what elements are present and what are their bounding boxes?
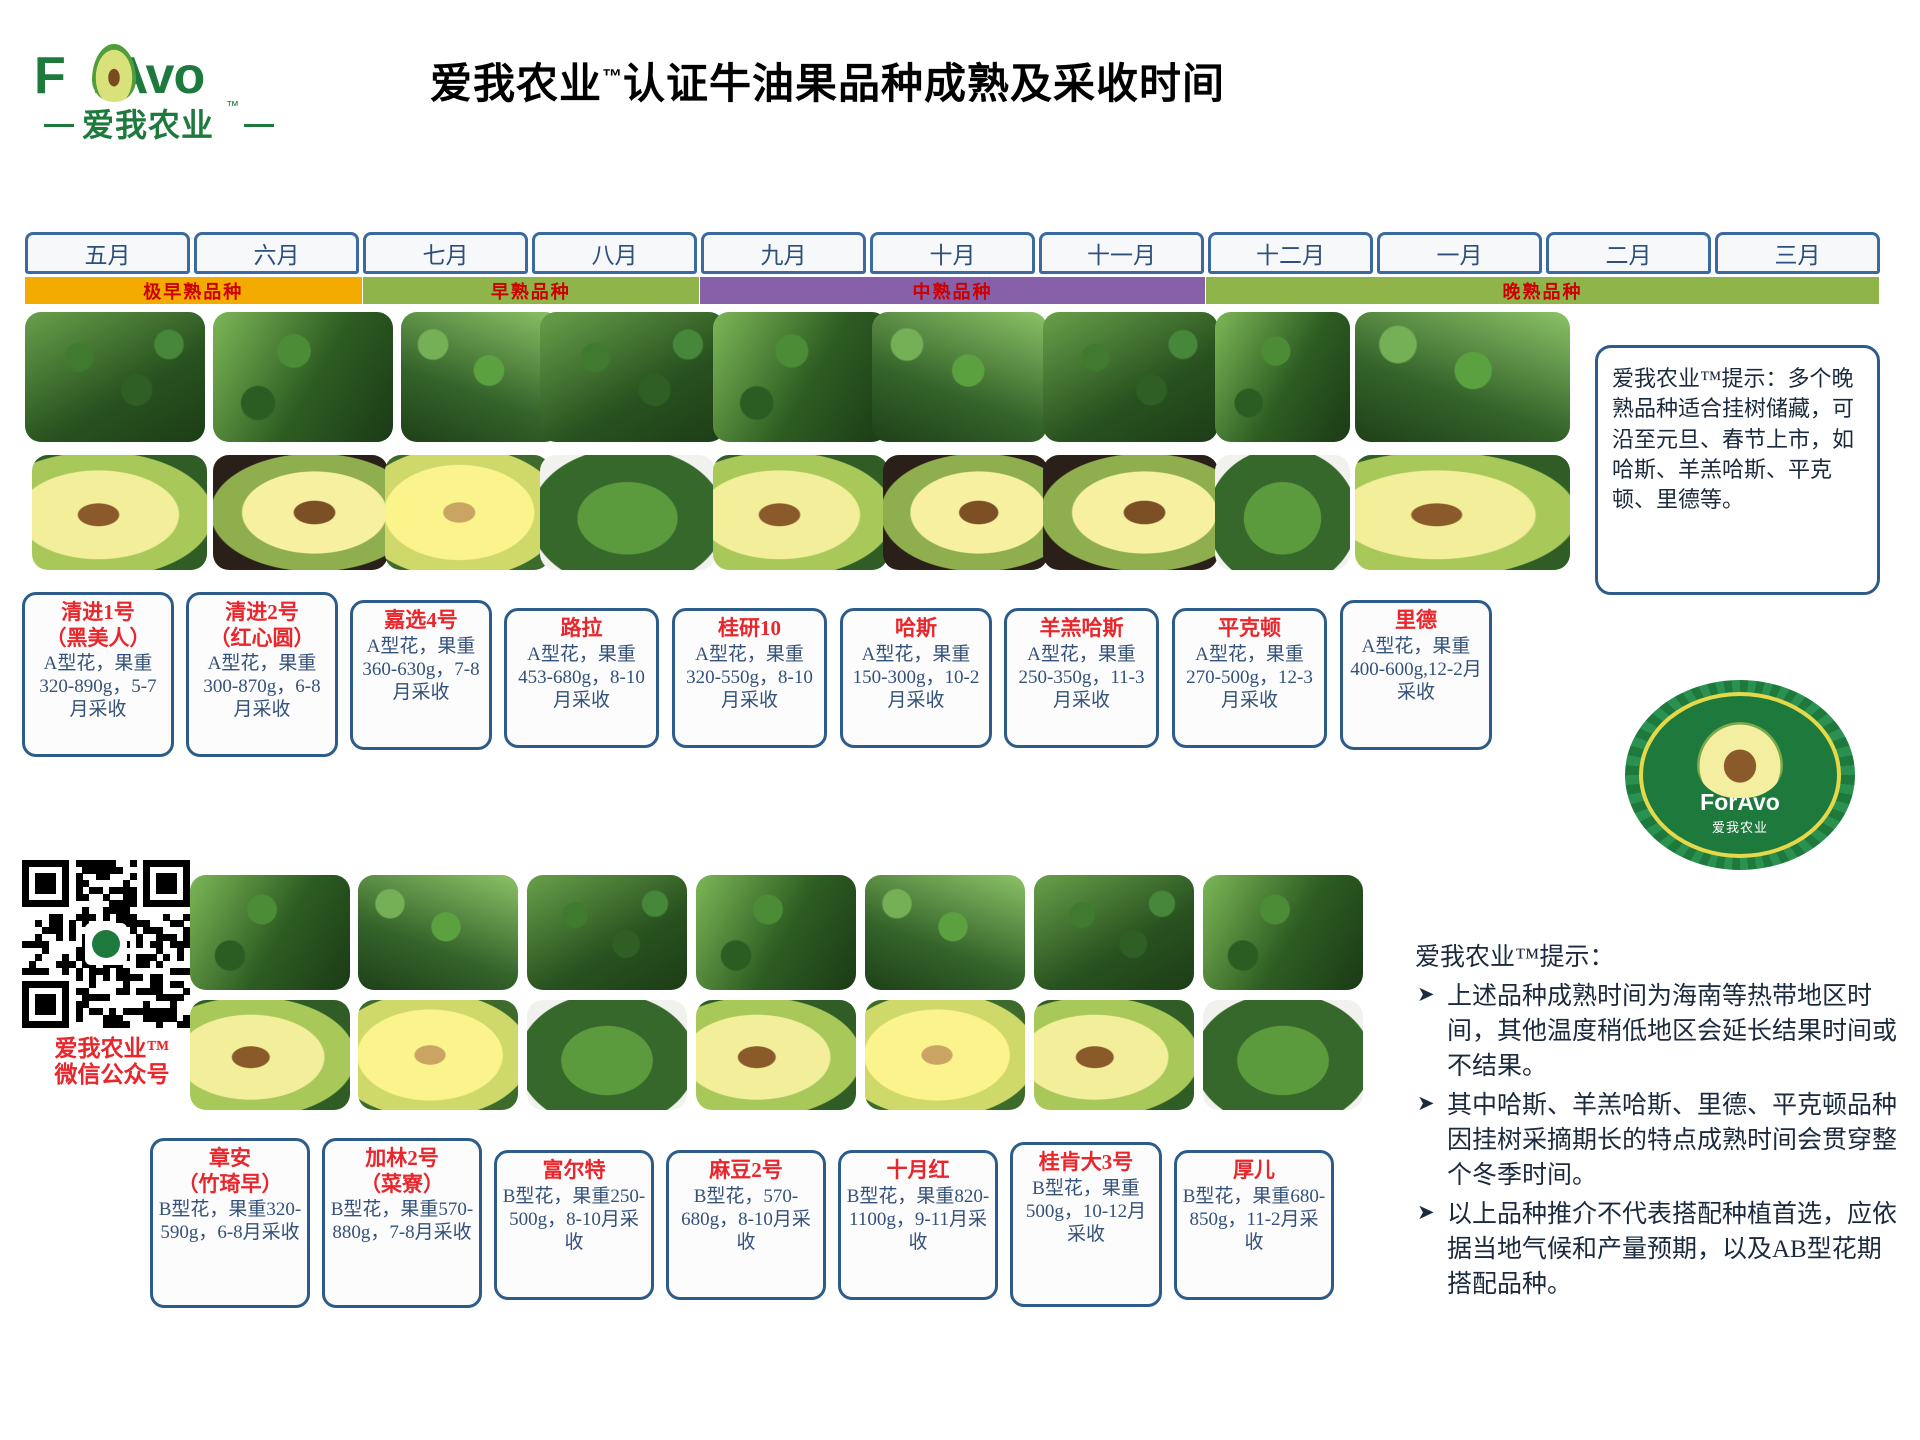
month-cell-8[interactable]: 十二月	[1208, 232, 1373, 274]
variety-fruit-photo	[1203, 1000, 1363, 1110]
title-trademark-icon: ™	[602, 66, 623, 88]
variety-card-title: 十月红	[846, 1159, 990, 1183]
variety-card[interactable]: 章安（竹琦早）B型花，果重320-590g，6-8月采收	[150, 1138, 310, 1308]
month-cell-1[interactable]: 五月	[25, 232, 190, 274]
variety-card-title: 哈斯	[848, 617, 984, 641]
brand-seal-badge: ForAvo 爱我农业	[1625, 680, 1855, 870]
qr-caption: 爱我农业™ 微信公众号	[22, 1036, 202, 1088]
variety-tree-photo	[190, 875, 350, 990]
variety-card-description: B型花，果重820-1100g，9-11月采收	[846, 1185, 990, 1255]
variety-card-description: A型花，果重250-350g，11-3月采收	[1012, 643, 1151, 713]
month-cell-9[interactable]: 一月	[1377, 232, 1542, 274]
variety-fruit-photo	[696, 1000, 856, 1110]
variety-card-description: B型花，果重250-500g，8-10月采收	[502, 1185, 646, 1255]
variety-fruit-photo	[358, 1000, 518, 1110]
variety-fruit-photo	[865, 1000, 1025, 1110]
variety-tree-photo	[713, 312, 888, 442]
variety-card-title: 平克顿	[1180, 617, 1319, 641]
month-cell-2[interactable]: 六月	[194, 232, 359, 274]
variety-fruit-photo	[1215, 455, 1350, 570]
variety-card-title: 路拉	[512, 617, 651, 641]
tip-notes-heading: 爱我农业™提示：	[1415, 940, 1905, 975]
variety-card[interactable]: 清进2号（红心圆）A型花，果重300-870g，6-8月采收	[186, 592, 338, 757]
logo-rule-left	[44, 124, 74, 127]
variety-card[interactable]: 桂研10A型花，果重320-550g，8-10月采收	[672, 608, 827, 748]
tip-notes-list: 上述品种成熟时间为海南等热带地区时间，其他温度稍低地区会延长结果时间或不结果。其…	[1415, 979, 1905, 1302]
variety-fruit-photo	[1043, 455, 1218, 570]
month-cell-10[interactable]: 二月	[1546, 232, 1711, 274]
variety-tree-photo	[25, 312, 205, 442]
variety-card-title: 羊羔哈斯	[1012, 617, 1151, 641]
variety-card[interactable]: 哈斯A型花，果重150-300g，10-2月采收	[840, 608, 992, 748]
qr-caption-line2: 微信公众号	[55, 1062, 170, 1087]
qr-caption-line1: 爱我农业™	[55, 1036, 170, 1061]
variety-card-description: A型花，果重400-600g,12-2月采收	[1348, 635, 1484, 705]
avocado-icon	[1697, 722, 1783, 798]
variety-card-title: 清进2号	[194, 601, 330, 625]
variety-card[interactable]: 富尔特B型花，果重250-500g，8-10月采收	[494, 1150, 654, 1300]
tip-note-item-2: 其中哈斯、羊羔哈斯、里德、平克顿品种因挂树采摘期长的特点成熟时间会贯穿整个冬季时…	[1415, 1088, 1905, 1193]
variety-fruit-photo	[32, 455, 207, 570]
variety-card[interactable]: 麻豆2号B型花，570-680g，8-10月采收	[666, 1150, 826, 1300]
variety-card-description: B型花，果重320-590g，6-8月采收	[158, 1198, 302, 1244]
season-band-row: 极早熟品种早熟品种中熟品种晚熟品种	[25, 277, 1880, 304]
variety-fruit-photo	[713, 455, 888, 570]
variety-card-title: 麻豆2号	[674, 1159, 818, 1183]
season-band-2[interactable]: 早熟品种	[363, 277, 701, 304]
variety-card[interactable]: 平克顿A型花，果重270-500g，12-3月采收	[1172, 608, 1327, 748]
badge-face: ForAvo 爱我农业	[1639, 692, 1841, 858]
variety-card-description: B型花，果重500g，10-12月采收	[1018, 1177, 1154, 1247]
variety-fruit-photo	[1355, 455, 1570, 570]
variety-card-title: 桂肯大3号	[1018, 1151, 1154, 1175]
variety-card-description: A型花，果重320-890g，5-7月采收	[30, 652, 166, 722]
tip-callout-late-varieties: 爱我农业™提示：多个晚熟品种适合挂树储藏，可沿至元旦、春节上市，如哈斯、羊羔哈斯…	[1595, 345, 1880, 595]
variety-card-title: 清进1号	[30, 601, 166, 625]
logo-trademark-icon: ™	[226, 98, 239, 113]
variety-fruit-photo	[883, 455, 1048, 570]
variety-card[interactable]: 十月红B型花，果重820-1100g，9-11月采收	[838, 1150, 998, 1300]
variety-fruit-photo	[527, 1000, 687, 1110]
variety-tree-photo	[865, 875, 1025, 990]
variety-card[interactable]: 里德A型花，果重400-600g,12-2月采收	[1340, 600, 1492, 750]
variety-card-title: 嘉选4号	[358, 609, 484, 633]
variety-card[interactable]: 嘉选4号A型花，果重360-630g，7-8月采收	[350, 600, 492, 750]
month-cell-4[interactable]: 八月	[532, 232, 697, 274]
variety-tree-photo	[1355, 312, 1570, 442]
page-title-rest: 认证牛油果品种成熟及采收时间	[623, 60, 1225, 107]
variety-card-title: 桂研10	[680, 617, 819, 641]
variety-card[interactable]: 路拉A型花，果重453-680g，8-10月采收	[504, 608, 659, 748]
tip-note-item-1: 上述品种成熟时间为海南等热带地区时间，其他温度稍低地区会延长结果时间或不结果。	[1415, 979, 1905, 1084]
season-band-4[interactable]: 晚熟品种	[1206, 277, 1880, 304]
variety-card-description: B型花，果重680-850g，11-2月采收	[1182, 1185, 1326, 1255]
variety-tree-photo	[1203, 875, 1363, 990]
page-title: 爱我农业™认证牛油果品种成熟及采收时间	[430, 50, 1530, 111]
variety-card-title: 富尔特	[502, 1159, 646, 1183]
variety-tree-photo	[872, 312, 1047, 442]
variety-card-description: A型花，果重360-630g，7-8月采收	[358, 635, 484, 705]
variety-tree-photo	[1043, 312, 1218, 442]
variety-card[interactable]: 厚儿B型花，果重680-850g，11-2月采收	[1174, 1150, 1334, 1300]
month-cell-7[interactable]: 十一月	[1039, 232, 1204, 274]
variety-card-description: B型花，果重570-880g，7-8月采收	[330, 1198, 474, 1244]
tip-callout-notes: 爱我农业™提示： 上述品种成熟时间为海南等热带地区时间，其他温度稍低地区会延长结…	[1415, 940, 1905, 1370]
season-band-3[interactable]: 中熟品种	[700, 277, 1206, 304]
variety-fruit-photo	[540, 455, 715, 570]
variety-card[interactable]: 羊羔哈斯A型花，果重250-350g，11-3月采收	[1004, 608, 1159, 748]
month-cell-6[interactable]: 十月	[870, 232, 1035, 274]
variety-card[interactable]: 桂肯大3号B型花，果重500g，10-12月采收	[1010, 1142, 1162, 1307]
season-band-1[interactable]: 极早熟品种	[25, 277, 363, 304]
variety-tree-photo	[1034, 875, 1194, 990]
month-header-row: 五月六月七月八月九月十月十一月十二月一月二月三月	[25, 232, 1880, 274]
variety-card-title: 厚儿	[1182, 1159, 1326, 1183]
variety-card-description: A型花，果重320-550g，8-10月采收	[680, 643, 819, 713]
variety-fruit-photo	[190, 1000, 350, 1110]
qr-code-image[interactable]	[22, 860, 190, 1028]
month-cell-3[interactable]: 七月	[363, 232, 528, 274]
variety-fruit-photo	[385, 455, 550, 570]
variety-tree-photo	[527, 875, 687, 990]
variety-card-alias: （竹琦早）	[158, 1173, 302, 1197]
variety-card-alias: （红心圆）	[194, 627, 330, 651]
variety-card-alias: （黑美人）	[30, 627, 166, 651]
variety-card-description: A型花，果重300-870g，6-8月采收	[194, 652, 330, 722]
wechat-qr-block: 爱我农业™ 微信公众号	[22, 860, 202, 1090]
month-cell-11[interactable]: 三月	[1715, 232, 1880, 274]
variety-card-title: 加林2号	[330, 1147, 474, 1171]
badge-chinese-name: 爱我农业	[1712, 817, 1768, 836]
logo-rule-right	[244, 124, 274, 127]
variety-tree-photo	[401, 312, 561, 442]
variety-card-alias: （菜寮）	[330, 1173, 474, 1197]
variety-tree-photo	[696, 875, 856, 990]
variety-card-description: A型花，果重270-500g，12-3月采收	[1180, 643, 1319, 713]
variety-card-title: 里德	[1348, 609, 1484, 633]
logo-chinese-name: 爱我农业	[82, 100, 214, 146]
variety-tree-photo	[1215, 312, 1350, 442]
brand-logo: F rAvo 爱我农业 ™	[30, 38, 280, 148]
variety-fruit-photo	[1034, 1000, 1194, 1110]
variety-card-title: 章安	[158, 1147, 302, 1171]
month-cell-5[interactable]: 九月	[701, 232, 866, 274]
variety-tree-photo	[540, 312, 725, 442]
tip-note-item-3: 以上品种推介不代表搭配种植首选，应依据当地气候和产量预期，以及AB型花期搭配品种…	[1415, 1197, 1905, 1302]
variety-tree-photo	[358, 875, 518, 990]
variety-card[interactable]: 清进1号（黑美人）A型花，果重320-890g，5-7月采收	[22, 592, 174, 757]
variety-tree-photo	[213, 312, 393, 442]
variety-card-description: B型花，570-680g，8-10月采收	[674, 1185, 818, 1255]
page-header: F rAvo 爱我农业 ™ 爱我农业™认证牛油果品种成熟及采收时间	[0, 0, 1920, 180]
variety-card-description: A型花，果重150-300g，10-2月采收	[848, 643, 984, 713]
variety-card[interactable]: 加林2号（菜寮）B型花，果重570-880g，7-8月采收	[322, 1138, 482, 1308]
variety-card-description: A型花，果重453-680g，8-10月采收	[512, 643, 651, 713]
page-title-brand: 爱我农业	[430, 60, 602, 107]
variety-fruit-photo	[213, 455, 388, 570]
